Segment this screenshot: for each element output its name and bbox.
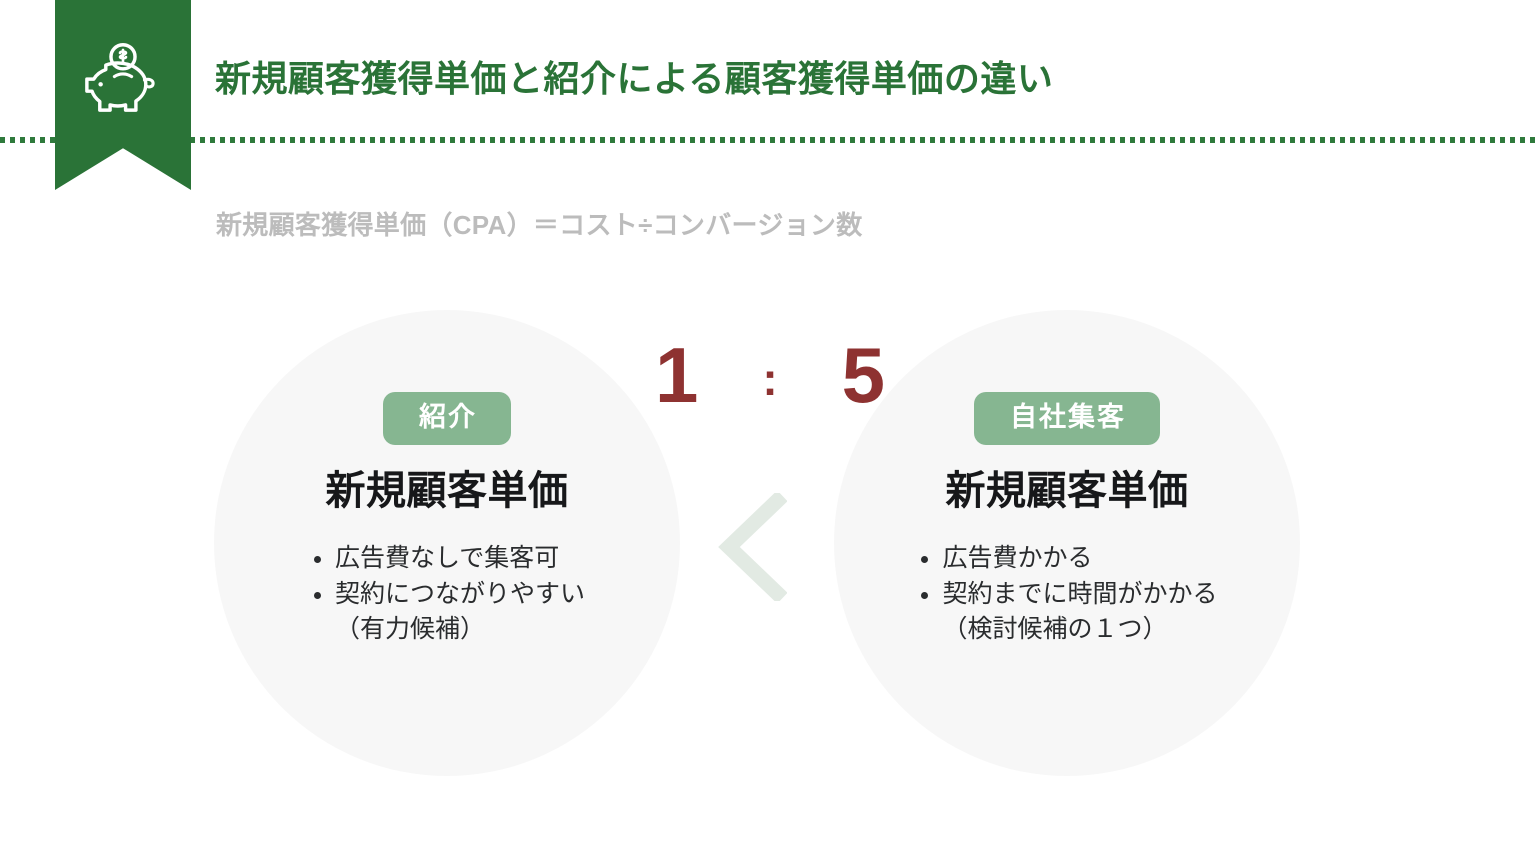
- slide-canvas: 新規顧客獲得単価と紹介による顧客獲得単価の違い 新規顧客獲得単価（CPA）＝コス…: [0, 0, 1536, 864]
- page-title: 新規顧客獲得単価と紹介による顧客獲得単価の違い: [215, 50, 1053, 102]
- card-heading: 新規顧客単価: [834, 467, 1300, 515]
- card-bullet-list: 広告費かかる 契約までに時間がかかる （検討候補の１つ）: [916, 541, 1217, 648]
- list-item: 契約までに時間がかかる: [916, 577, 1217, 613]
- ratio-indicator: 1 : 5: [560, 336, 980, 414]
- card-bullet-list: 広告費なしで集客可 契約につながりやすい （有力候補）: [309, 541, 585, 648]
- cpa-formula-subtitle: 新規顧客獲得単価（CPA）＝コスト÷コンバージョン数: [216, 205, 863, 242]
- list-item: 契約につながりやすい: [309, 577, 585, 613]
- list-item: （有力候補）: [309, 612, 585, 648]
- header-ribbon: [55, 0, 191, 190]
- header-dotted-divider: [0, 137, 1536, 143]
- list-item: （検討候補の１つ）: [916, 612, 1217, 648]
- ratio-right-value: 5: [842, 336, 885, 414]
- card-content: 紹介 新規顧客単価 広告費なしで集客可 契約につながりやすい （有力候補）: [214, 392, 680, 648]
- list-item: 広告費かかる: [916, 541, 1217, 577]
- list-item: 広告費なしで集客可: [309, 541, 585, 577]
- ratio-separator: :: [762, 356, 777, 402]
- less-than-icon: [715, 493, 787, 601]
- status-badge: 紹介: [383, 392, 511, 445]
- status-badge: 自社集客: [974, 392, 1160, 445]
- card-heading: 新規顧客単価: [214, 467, 680, 515]
- piggy-bank-icon: [80, 42, 166, 118]
- ratio-left-value: 1: [655, 336, 698, 414]
- card-content: 自社集客 新規顧客単価 広告費かかる 契約までに時間がかかる （検討候補の１つ）: [834, 392, 1300, 648]
